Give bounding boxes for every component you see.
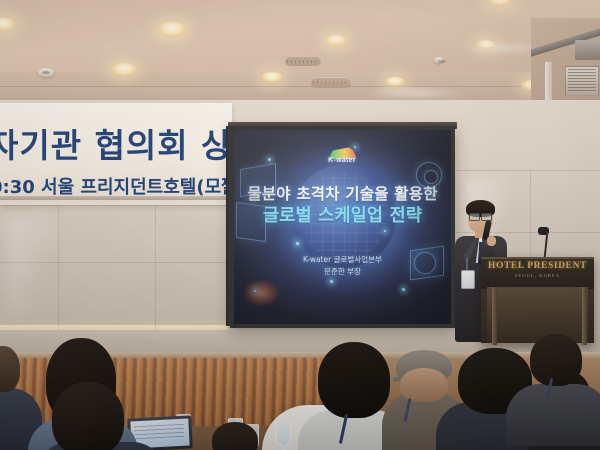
banner-title-text: 자기관 협의회 상반 bbox=[0, 119, 232, 167]
audience-member-far-right bbox=[506, 384, 600, 446]
slide-title: 물분야 초격차 기술을 활용한 글로벌 스케일업 전략 bbox=[234, 186, 451, 227]
podium-sign-subtext: SEOUL, KOREA bbox=[481, 273, 594, 278]
hvac-grille bbox=[565, 66, 599, 96]
eyeglasses-icon bbox=[469, 213, 492, 219]
recessed-downlight bbox=[385, 77, 405, 86]
slide-subtitle: K-water 글로벌사업본부 문준한 부장 bbox=[234, 254, 451, 277]
audience-member-edge-head bbox=[212, 422, 258, 450]
presenter-name-badge bbox=[461, 270, 475, 289]
slide-network-node bbox=[254, 290, 256, 292]
event-banner: 자기관 협의회 상반 0:30 서울 프리지던트호텔(모짤트홀) bbox=[0, 103, 232, 205]
structural-post bbox=[545, 62, 552, 104]
ceiling-air-vent bbox=[311, 77, 351, 88]
recessed-downlight bbox=[0, 18, 16, 31]
wall-panel-seam bbox=[455, 170, 600, 171]
slide-network-node bbox=[384, 230, 386, 232]
smoke-detector bbox=[38, 68, 54, 77]
recessed-downlight bbox=[261, 72, 283, 82]
ceiling-structure-right bbox=[531, 18, 600, 104]
slide-network-node bbox=[330, 280, 333, 283]
recessed-downlight bbox=[324, 35, 348, 46]
ceiling-seam bbox=[0, 86, 600, 87]
audience-member-center-head bbox=[318, 342, 390, 418]
audience-row bbox=[0, 330, 600, 450]
projection-screen: K-water 물분야 초격차 기술을 활용한 글로벌 스케일업 전략 K-wa… bbox=[234, 130, 451, 324]
conference-photo-scene: 자기관 협의회 상반 0:30 서울 프리지던트호텔(모짤트홀) K-water… bbox=[0, 0, 600, 450]
slide-network-node bbox=[296, 242, 299, 245]
audience-member-far-right-head bbox=[530, 334, 582, 386]
slide-subtitle-line2: 문준한 부장 bbox=[234, 266, 451, 278]
presenter-hand bbox=[487, 236, 496, 246]
podium-sign-text: HOTEL PRESIDENT bbox=[481, 261, 594, 271]
slide-network-node bbox=[268, 158, 271, 161]
kwater-logo-text: K-water bbox=[317, 157, 367, 164]
wall-panel-seam bbox=[155, 205, 156, 330]
slide-subtitle-line1: K-water 글로벌사업본부 bbox=[234, 254, 451, 266]
audience-member-left-center-head bbox=[52, 382, 124, 450]
recessed-downlight bbox=[157, 22, 187, 37]
ceiling-light-glare bbox=[360, 86, 470, 100]
slide-title-line2: 글로벌 스케일업 전략 bbox=[234, 206, 451, 227]
recessed-downlight bbox=[111, 63, 137, 76]
wall-panel-seam bbox=[58, 205, 59, 330]
slide-tech-ring bbox=[424, 170, 438, 184]
audience-member-cap-head bbox=[400, 368, 448, 402]
audience-member-far-left-head bbox=[0, 346, 20, 392]
kwater-logo: K-water bbox=[317, 146, 367, 170]
wall-reflection bbox=[8, 218, 58, 318]
slide-network-node bbox=[402, 288, 405, 291]
banner-bottom-edge bbox=[0, 196, 232, 200]
slide-orange-accent bbox=[244, 280, 278, 306]
ceiling-air-vent bbox=[285, 56, 321, 66]
ceiling bbox=[0, 0, 600, 108]
slide-title-line1: 물분야 초격차 기술을 활용한 bbox=[234, 186, 451, 204]
wall-panel-seam bbox=[0, 205, 230, 206]
ceiling-projector bbox=[575, 40, 600, 60]
recessed-downlight bbox=[487, 0, 513, 6]
smoke-detector bbox=[434, 57, 443, 63]
